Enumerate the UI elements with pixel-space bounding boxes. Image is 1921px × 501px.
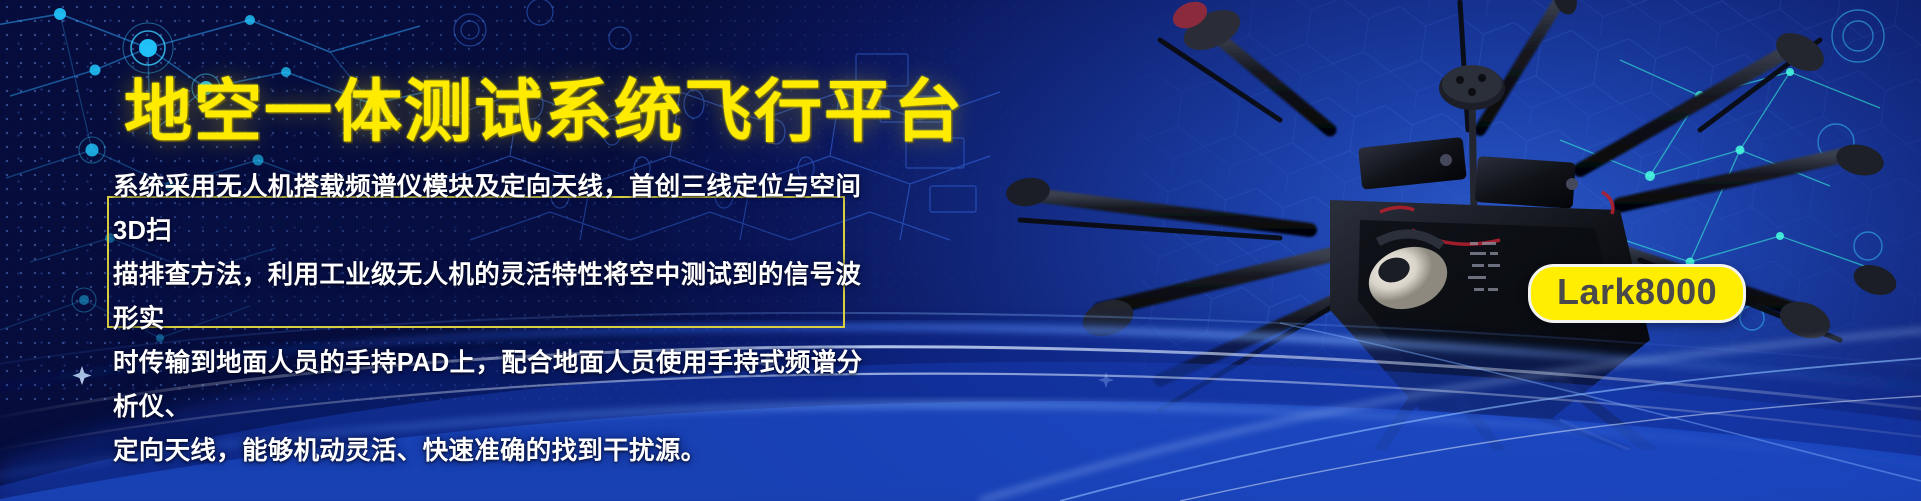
description-text: 系统采用无人机搭载频谱仪模块及定向天线，首创三线定位与空间3D扫 描排查方法，利… xyxy=(113,165,865,473)
product-banner: 地空一体测试系统飞行平台 系统采用无人机搭载频谱仪模块及定向天线，首创三线定位与… xyxy=(0,0,1921,501)
product-badge[interactable]: Lark8000 xyxy=(1528,264,1746,323)
page-title: 地空一体测试系统飞行平台 xyxy=(124,78,964,146)
